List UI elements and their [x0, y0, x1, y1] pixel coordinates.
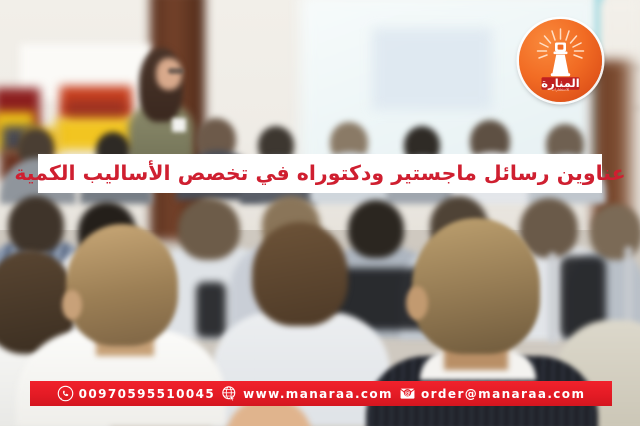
- chair-back: [196, 282, 226, 338]
- contact-website[interactable]: www.manaraa.com: [221, 385, 393, 402]
- contact-phone[interactable]: 00970595510045: [57, 385, 216, 402]
- whatsapp-icon: [57, 385, 74, 402]
- phone-number: 00970595510045: [79, 388, 216, 400]
- headline-banner: عناوين رسائل ماجستير ودكتوراه في تخصص ال…: [38, 154, 602, 193]
- globe-icon: [221, 385, 238, 402]
- presenter-badge: [172, 118, 186, 132]
- audience-head: [178, 198, 240, 260]
- presenter-glasses: [168, 68, 184, 74]
- email-address: order@manaraa.com: [421, 388, 585, 400]
- foreground-person-head: [412, 218, 540, 354]
- promo-banner: المنارة للاستشارات عناوين رسائل ماجستير …: [0, 0, 640, 426]
- svg-text:@: @: [405, 390, 411, 397]
- foreground-person-ear: [406, 286, 428, 320]
- manaraa-lighthouse-logo[interactable]: المنارة للاستشارات: [519, 19, 602, 102]
- audience-head: [348, 200, 404, 258]
- logo-subtitle-text: للاستشارات: [552, 88, 570, 92]
- foreground-person-head: [66, 224, 178, 346]
- chair-frame: [548, 252, 557, 344]
- website-url: www.manaraa.com: [243, 388, 393, 400]
- foreground-person-ear: [62, 290, 82, 320]
- email-icon: @: [399, 385, 416, 402]
- projection-slide: [372, 28, 492, 110]
- contact-email[interactable]: @ order@manaraa.com: [399, 385, 585, 402]
- audience-head: [252, 222, 348, 326]
- page-title: عناوين رسائل ماجستير ودكتوراه في تخصص ال…: [14, 163, 625, 184]
- presenter-face: [156, 58, 182, 90]
- lighthouse-icon: المنارة للاستشارات: [519, 19, 602, 102]
- contact-bar: 00970595510045 www.manaraa.com @ order@m…: [30, 381, 612, 406]
- audience-head: [8, 196, 64, 254]
